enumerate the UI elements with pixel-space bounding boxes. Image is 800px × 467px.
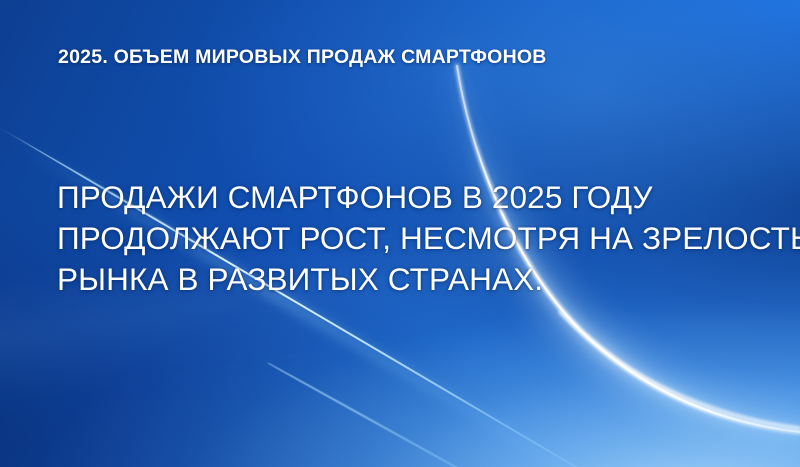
presentation-slide: 2025. ОБЪЕМ МИРОВЫХ ПРОДАЖ СМАРТФОНОВ ПР… [0, 0, 800, 467]
slide-body-text: ПРОДАЖИ СМАРТФОНОВ В 2025 ГОДУ ПРОДОЛЖАЮ… [57, 177, 747, 300]
slide-heading: 2025. ОБЪЕМ МИРОВЫХ ПРОДАЖ СМАРТФОНОВ [58, 46, 547, 69]
body-line-3: РЫНКА В РАЗВИТЫХ СТРАНАХ. [57, 259, 747, 300]
diagonal-light-streak-lower [268, 362, 557, 467]
body-line-2: ПРОДОЛЖАЮТ РОСТ, НЕСМОТРЯ НА ЗРЕЛОСТЬ [57, 218, 747, 259]
body-line-1: ПРОДАЖИ СМАРТФОНОВ В 2025 ГОДУ [57, 177, 747, 218]
